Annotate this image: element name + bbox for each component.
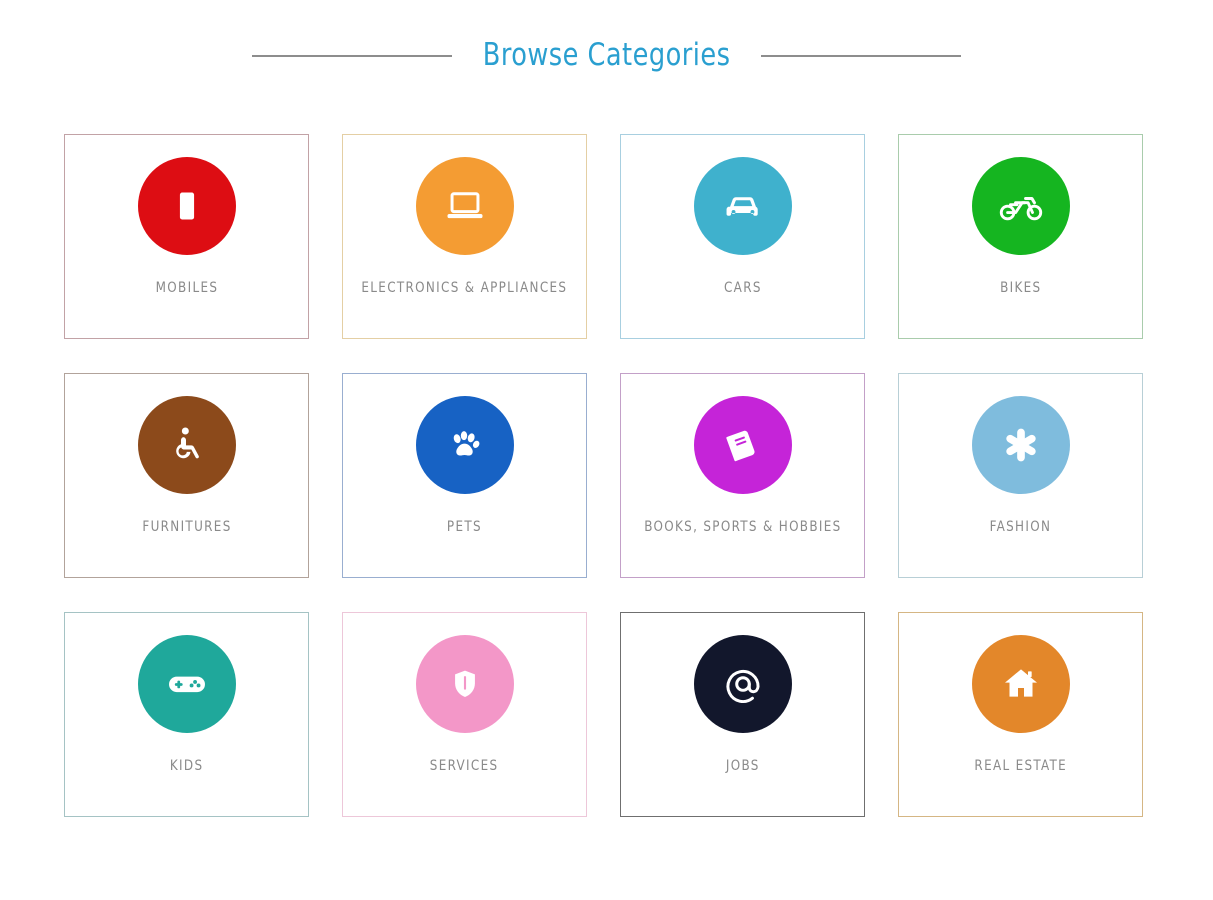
category-label: MOBILES [155,281,218,296]
category-label: ELECTRONICS & APPLIANCES [362,281,568,296]
category-card-furnitures[interactable]: FURNITURES [64,373,309,578]
book-icon [694,396,792,494]
heading-rule-right [761,55,961,57]
wheelchair-icon [138,396,236,494]
category-card-bikes[interactable]: BIKES [898,134,1143,339]
category-card-mobiles[interactable]: MOBILES [64,134,309,339]
heading-rule-left [252,55,452,57]
laptop-icon [416,157,514,255]
category-card-electronics-appliances[interactable]: ELECTRONICS & APPLIANCES [342,134,587,339]
page-heading: Browse Categories [0,40,1213,71]
category-card-services[interactable]: SERVICES [342,612,587,817]
category-label: FASHION [990,520,1052,535]
car-icon [694,157,792,255]
browse-categories-page: Browse Categories MOBILESELECTRONICS & A… [0,0,1213,900]
category-card-jobs[interactable]: JOBS [620,612,865,817]
category-card-real-estate[interactable]: REAL ESTATE [898,612,1143,817]
category-label: JOBS [726,759,760,774]
category-card-fashion[interactable]: FASHION [898,373,1143,578]
category-card-cars[interactable]: CARS [620,134,865,339]
category-label: BIKES [1000,281,1041,296]
shield-icon [416,635,514,733]
category-card-pets[interactable]: PETS [342,373,587,578]
asterisk-icon [972,396,1070,494]
category-card-kids[interactable]: KIDS [64,612,309,817]
paw-print-icon [416,396,514,494]
at-sign-icon [694,635,792,733]
motorcycle-icon [972,157,1070,255]
house-icon [972,635,1070,733]
category-label: CARS [724,281,762,296]
category-label: BOOKS, SPORTS & HOBBIES [644,520,841,535]
gamepad-icon [138,635,236,733]
category-label: REAL ESTATE [974,759,1067,774]
category-grid: MOBILESELECTRONICS & APPLIANCESCARSBIKES… [64,134,1145,817]
category-label: PETS [447,520,482,535]
category-label: KIDS [170,759,204,774]
category-label: FURNITURES [142,520,231,535]
category-card-books-sports-hobbies[interactable]: BOOKS, SPORTS & HOBBIES [620,373,865,578]
mobile-phone-icon [138,157,236,255]
category-label: SERVICES [430,759,499,774]
page-title: Browse Categories [483,40,731,71]
